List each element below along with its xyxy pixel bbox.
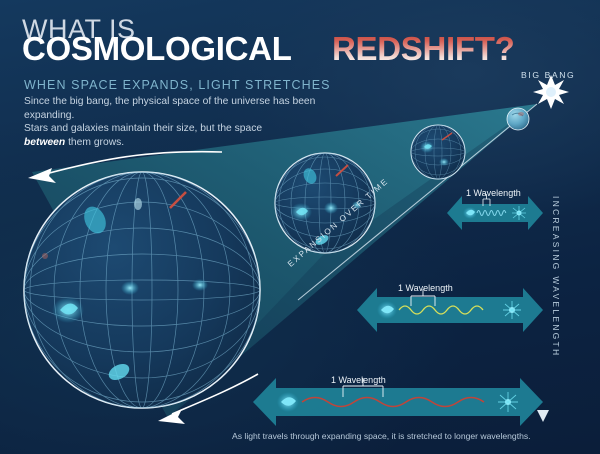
wavelength-arrow-2: [357, 288, 543, 332]
intro-line-3: them grows.: [65, 137, 124, 148]
title-line-3: REDSHIFT?: [332, 30, 514, 68]
infographic-graphics: [0, 0, 600, 454]
big-bang-label: BIG BANG: [521, 70, 575, 80]
wavelength-label-3: 1 Wavelength: [331, 375, 386, 385]
wavelength-arrow-1: [447, 194, 543, 230]
subtitle: WHEN SPACE EXPANDS, LIGHT STRETCHES: [24, 78, 331, 92]
intro-paragraph: Since the big bang, the physical space o…: [24, 95, 324, 149]
footer-caption: As light travels through expanding space…: [232, 431, 531, 441]
infographic-canvas: WHAT IS COSMOLOGICAL REDSHIFT? WHEN SPAC…: [0, 0, 600, 454]
universe-sphere-small: [411, 125, 465, 179]
increasing-wavelength-axis: [537, 118, 549, 422]
increasing-wavelength-label: INCREASING WAVELENGTH: [551, 196, 561, 358]
intro-line-1: Since the big bang, the physical space o…: [24, 96, 315, 121]
big-bang-burst-icon: [533, 75, 569, 109]
universe-sphere-largest: [24, 172, 260, 408]
intro-emphasis: between: [24, 137, 65, 148]
wavelength-label-1: 1 Wavelength: [466, 188, 521, 198]
wavelength-arrow-3: [253, 378, 543, 426]
title-line-2: COSMOLOGICAL: [22, 30, 292, 68]
intro-line-2: Stars and galaxies maintain their size, …: [24, 123, 262, 134]
wavelength-label-2: 1 Wavelength: [398, 283, 453, 293]
universe-sphere-smallest: [507, 108, 529, 130]
